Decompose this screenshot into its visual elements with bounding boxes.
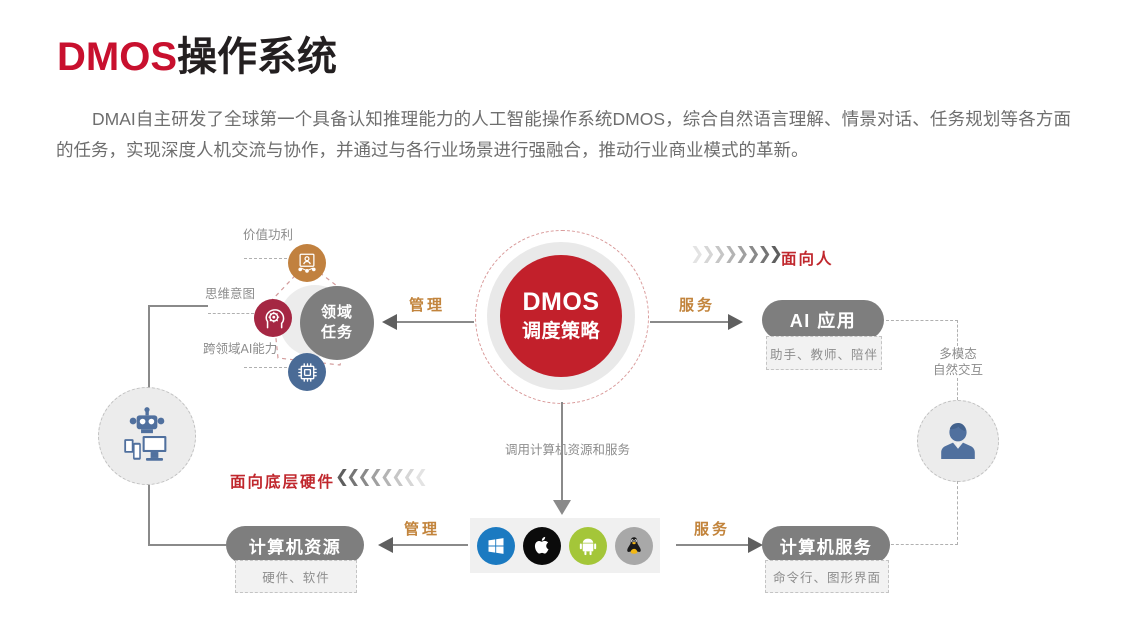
network-person-icon: [288, 244, 326, 282]
domain-task-line1: 领域: [321, 303, 353, 323]
person-actor-node[interactable]: [917, 400, 999, 482]
apple-icon[interactable]: [523, 527, 561, 565]
intro-paragraph-text: DMAI自主研发了全球第一个具备认知推理能力的人工智能操作系统DMOS，综合自然…: [56, 109, 1071, 160]
computer-resource-pill[interactable]: 计算机资源: [226, 526, 364, 564]
ai-application-sub: 助手、教师、陪伴: [770, 344, 878, 363]
slide-page: DMOS操作系统 DMAI自主研发了全球第一个具备认知推理能力的人工智能操作系统…: [0, 0, 1125, 630]
ai-application-subbox: 助手、教师、陪伴: [766, 336, 882, 370]
architecture-diagram: 价值功利 思维意图 跨领域AI能力: [0, 200, 1125, 630]
service-top-label: 服务: [679, 294, 715, 315]
ai-to-person-h: [886, 320, 958, 321]
manage-bottom-arrow-line: [392, 544, 468, 546]
computer-service-subbox: 命令行、图形界面: [765, 560, 889, 593]
robot-actor-node[interactable]: [98, 387, 196, 485]
manage-bottom-label: 管理: [404, 518, 440, 539]
service-bottom-label: 服务: [694, 518, 730, 539]
to-people-label: 面向人: [781, 247, 834, 269]
linux-icon[interactable]: [615, 527, 653, 565]
android-icon[interactable]: [569, 527, 607, 565]
service-bottom-arrow-line: [676, 544, 748, 546]
domain-task-node[interactable]: 领域 任务: [300, 286, 374, 360]
manage-top-arrow-line: [396, 321, 474, 323]
manage-top-arrowhead: [382, 314, 397, 330]
computer-resource-sub: 硬件、软件: [262, 567, 330, 586]
left-bracket-top: [148, 305, 208, 307]
multimodal-line1: 多模态: [912, 346, 1004, 362]
chip-icon: [288, 353, 326, 391]
robot-devices-icon: [116, 405, 178, 467]
dmos-core-subtitle: 调度策略: [522, 320, 600, 345]
service-bottom-arrowhead: [748, 537, 763, 553]
computer-service-title: 计算机服务: [780, 533, 873, 558]
satellite-label-thinking: 思维意图: [205, 286, 255, 302]
multimodal-line2: 自然交互: [912, 362, 1004, 378]
ai-application-pill[interactable]: AI 应用: [762, 300, 884, 340]
computer-resource-subbox: 硬件、软件: [235, 560, 357, 593]
head-gear-icon: [254, 299, 292, 337]
dmos-core-node[interactable]: DMOS 调度策略: [500, 255, 622, 377]
computer-service-sub: 命令行、图形界面: [773, 567, 881, 586]
multimodal-label: 多模态 自然交互: [912, 346, 1004, 378]
computer-service-pill[interactable]: 计算机服务: [762, 526, 890, 564]
to-hardware-chevrons: ❮❮❮❮❮❮❮❮: [338, 468, 428, 485]
center-down-label: 调用计算机资源和服务: [505, 442, 630, 458]
person-upper-v: [957, 378, 958, 400]
manage-bottom-arrowhead: [378, 537, 393, 553]
person-to-service-h: [886, 544, 958, 545]
service-top-arrow-line: [650, 321, 728, 323]
computer-resource-title: 计算机资源: [249, 533, 342, 558]
leader-line-thinking: [208, 313, 254, 314]
person-icon: [934, 417, 982, 465]
left-bracket-bottom: [148, 544, 226, 546]
dmos-core-title: DMOS: [523, 287, 600, 318]
to-people-chevrons: ❯❯❯❯❯❯❯❯: [693, 245, 783, 262]
windows-icon[interactable]: [477, 527, 515, 565]
page-title-highlight: DMOS: [57, 35, 177, 79]
os-icon-strip: [470, 518, 660, 573]
page-title: DMOS操作系统: [57, 33, 337, 81]
center-down-arrowhead: [553, 500, 571, 515]
manage-top-label: 管理: [409, 294, 445, 315]
ai-application-title: AI 应用: [790, 307, 857, 333]
ai-to-person-v: [957, 320, 958, 346]
intro-paragraph: DMAI自主研发了全球第一个具备认知推理能力的人工智能操作系统DMOS，综合自然…: [56, 104, 1071, 166]
person-lower-v: [957, 481, 958, 545]
to-hardware-label: 面向底层硬件: [230, 470, 335, 492]
page-title-rest: 操作系统: [177, 35, 337, 79]
service-top-arrowhead: [728, 314, 743, 330]
domain-task-line2: 任务: [321, 323, 353, 343]
